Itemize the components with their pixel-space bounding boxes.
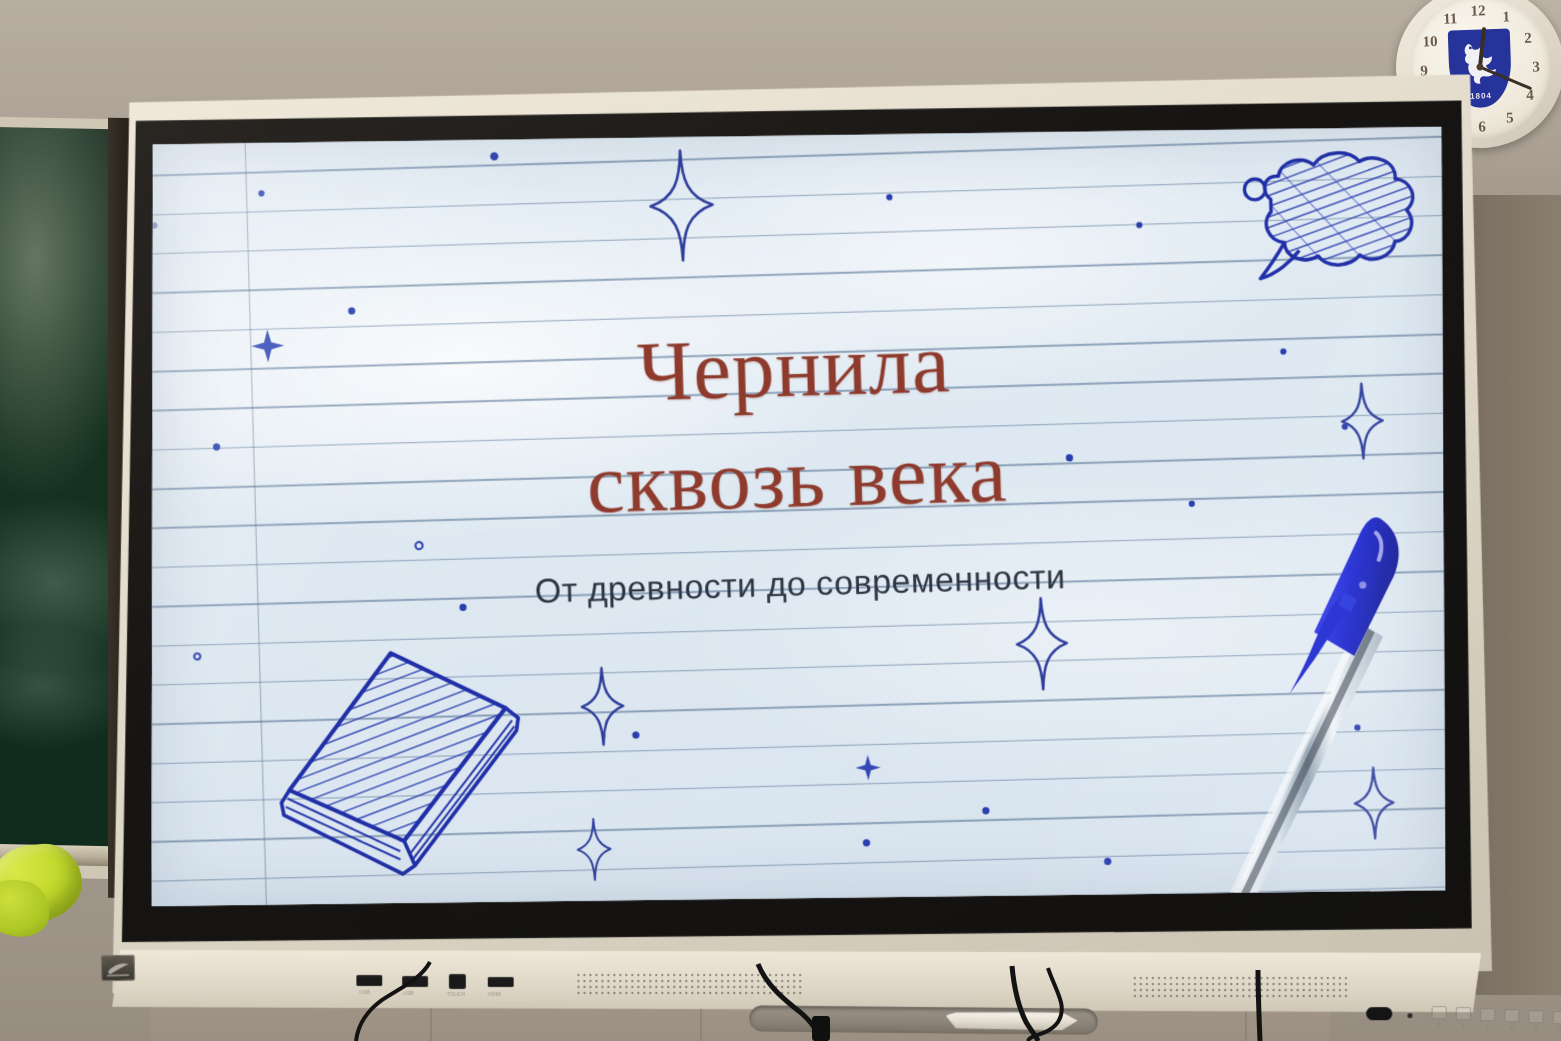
chalkboard bbox=[0, 127, 114, 865]
slide-subtitle: От древности до современности bbox=[534, 557, 1066, 611]
clock-number-4: 4 bbox=[1526, 88, 1534, 105]
interactive-display[interactable]: Чернила сквозь века От древности до совр… bbox=[102, 74, 1492, 994]
clock-number-5: 5 bbox=[1506, 110, 1514, 127]
clock-number-11: 11 bbox=[1443, 11, 1458, 28]
presentation-slide[interactable]: Чернила сквозь века От древности до совр… bbox=[150, 127, 1446, 907]
clock-number-12: 12 bbox=[1470, 3, 1486, 21]
clock-number-10: 10 bbox=[1422, 34, 1438, 52]
clock-number-3: 3 bbox=[1532, 59, 1540, 76]
classroom-scene: 12 1 2 3 4 5 6 7 8 9 10 11 1804 bbox=[0, 0, 1561, 1041]
hanging-cables bbox=[0, 940, 1561, 1041]
clock-number-2: 2 bbox=[1524, 31, 1532, 48]
slide-text-block: Чернила сквозь века От древности до совр… bbox=[150, 127, 1446, 907]
slide-title-line-1: Чернила bbox=[636, 308, 952, 427]
clock-number-1: 1 bbox=[1502, 9, 1510, 26]
display-screen[interactable]: Чернила сквозь века От древности до совр… bbox=[150, 127, 1446, 907]
slide-title-line-2: сквозь века bbox=[585, 417, 1008, 539]
